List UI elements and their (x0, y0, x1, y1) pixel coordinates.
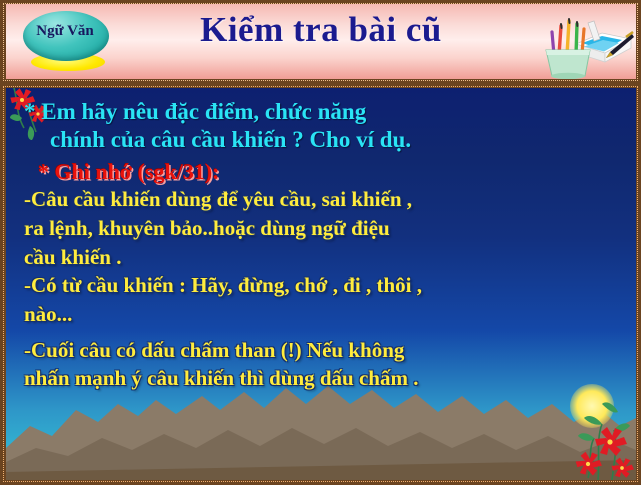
question-line-1: * Em hãy nêu đặc điểm, chức năng (24, 98, 626, 126)
content-frame: * Em hãy nêu đặc điểm, chức năng chính c… (0, 84, 641, 485)
note-line: nhấn mạnh ý câu khiến thì dùng dấu chấm … (24, 365, 626, 393)
note-line: ra lệnh, khuyên bảo..hoặc dùng ngữ điệu (24, 215, 626, 243)
slide-text-content: * Em hãy nêu đặc điểm, chức năng chính c… (6, 88, 636, 393)
header-band: Ngữ Văn Kiểm tra bài cũ (6, 4, 636, 79)
note-heading: * Ghi nhớ (sgk/31): (24, 159, 626, 185)
content-background: * Em hãy nêu đặc điểm, chức năng chính c… (6, 88, 636, 480)
poinsettia-flowers-icon (558, 384, 636, 480)
note-line: cầu khiến . (24, 244, 626, 272)
question-line-2: chính của câu cầu khiến ? Cho ví dụ. (24, 126, 626, 154)
pencil-cup-notebook-pen-icon (536, 6, 634, 79)
spacer (24, 329, 626, 336)
note-line: nào... (24, 301, 626, 329)
header-frame: Ngữ Văn Kiểm tra bài cũ (0, 0, 641, 84)
note-line: -Cuối câu có dấu chấm than (!) Nếu không (24, 337, 626, 365)
slide-canvas: Ngữ Văn Kiểm tra bài cũ (0, 0, 641, 485)
note-line: -Có từ cầu khiến : Hãy, đừng, chớ , đi ,… (24, 272, 626, 300)
note-line: -Câu cầu khiến dùng để yêu cầu, sai khiế… (24, 186, 626, 214)
